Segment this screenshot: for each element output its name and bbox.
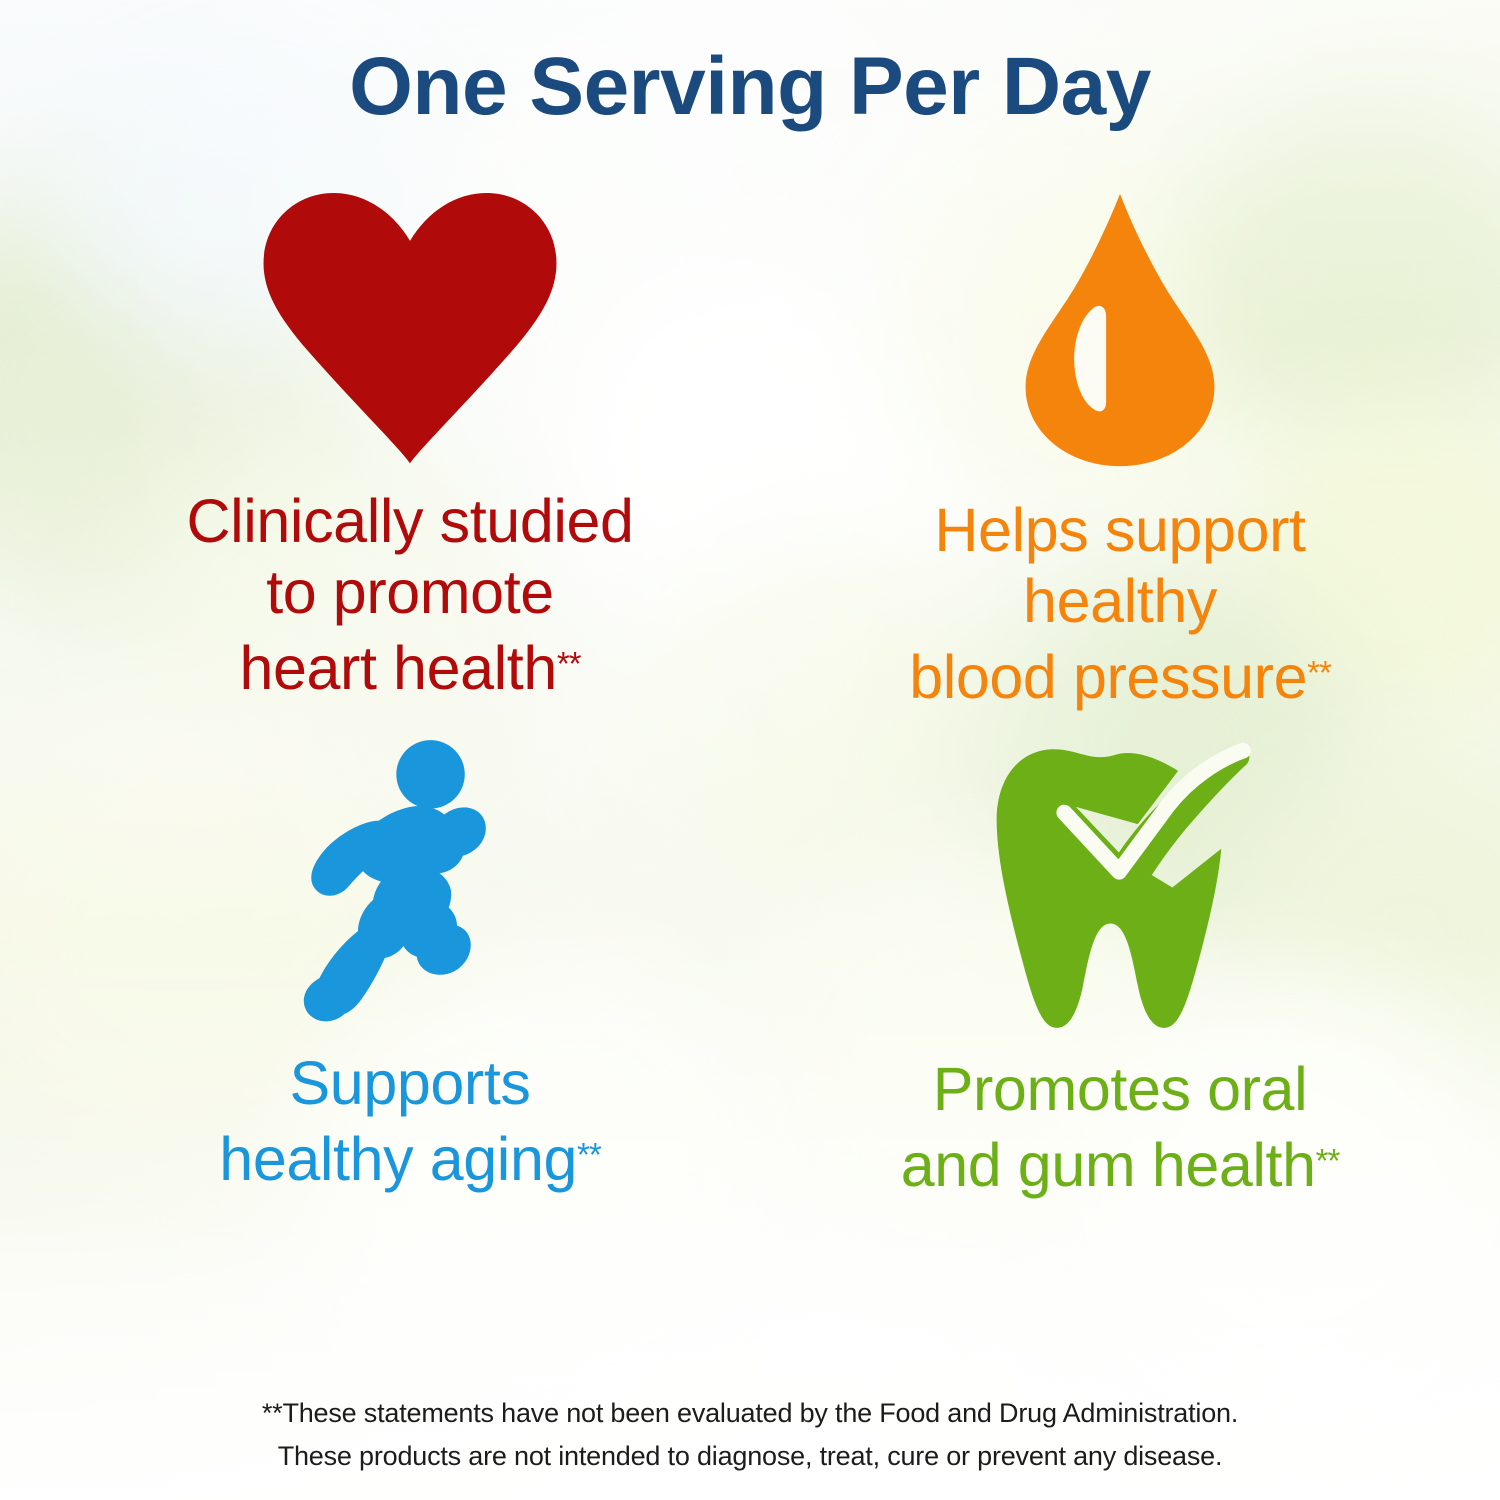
caption-text: Helps support healthy blood pressure [909,496,1307,711]
benefit-caption-oral-health: Promotes oral and gum health** [790,1054,1450,1201]
benefit-item-oral-health: Promotes oral and gum health** [790,740,1450,1201]
benefit-item-heart: Clinically studied to promote heart heal… [60,190,760,704]
tooth-check-icon [790,740,1450,1040]
benefit-item-healthy-aging: Supports healthy aging** [60,740,760,1195]
benefit-caption-heart: Clinically studied to promote heart heal… [60,486,760,704]
caption-asterisks: ** [1316,1142,1340,1179]
disclaimer-line-1: **These statements have not been evaluat… [262,1398,1238,1428]
heart-icon [60,190,760,470]
caption-text: Promotes oral and gum health [901,1055,1316,1199]
caption-text: Supports healthy aging [219,1049,577,1193]
promo-graphic: One Serving Per Day Clinically studied t… [0,0,1500,1500]
page-title: One Serving Per Day [0,46,1500,128]
benefit-caption-blood-pressure: Helps support healthy blood pressure** [790,495,1450,713]
disclaimer-footnote: **These statements have not been evaluat… [0,1392,1500,1478]
caption-asterisks: ** [1307,654,1331,691]
caption-asterisks: ** [577,1136,601,1173]
content-layer: One Serving Per Day Clinically studied t… [0,0,1500,1500]
benefit-caption-healthy-aging: Supports healthy aging** [60,1048,760,1195]
water-drop-icon [790,190,1450,475]
disclaimer-line-2: These products are not intended to diagn… [278,1441,1223,1471]
caption-asterisks: ** [557,645,581,682]
benefit-item-blood-pressure: Helps support healthy blood pressure** [790,190,1450,713]
running-person-icon [60,740,760,1030]
